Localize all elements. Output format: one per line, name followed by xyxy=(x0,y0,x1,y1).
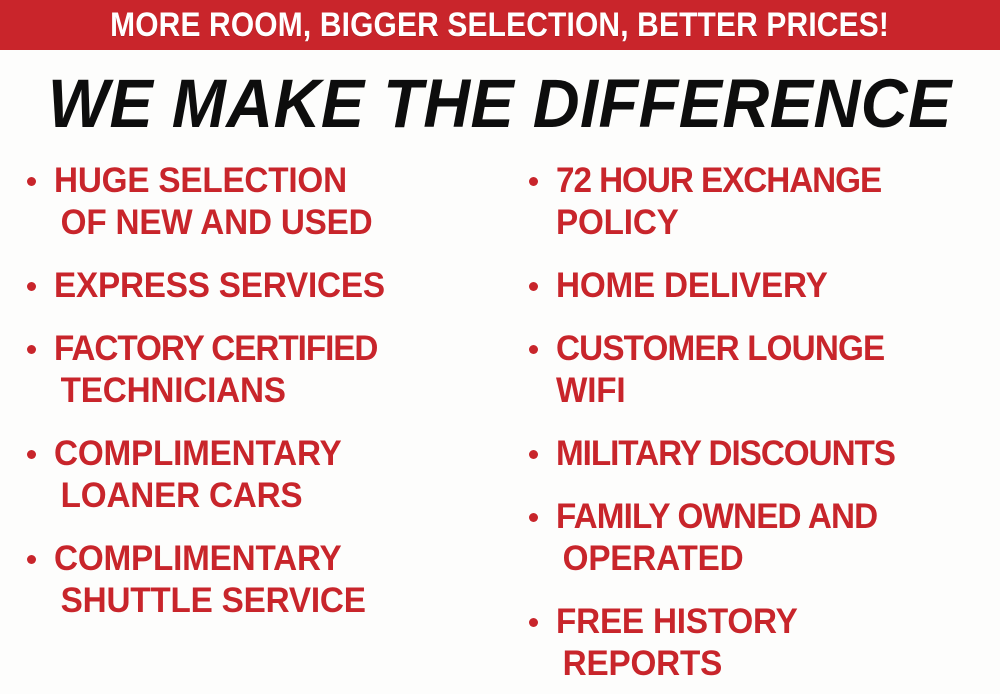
list-item-line: CUSTOMER LOUNGE xyxy=(556,328,978,370)
list-item-line: TECHNICIANS xyxy=(54,370,485,412)
list-item-line: 72 HOUR EXCHANGE xyxy=(556,160,978,202)
bullet-dot-icon xyxy=(529,282,538,291)
list-item-line: HUGE SELECTION xyxy=(54,160,485,202)
bullet-dot-icon xyxy=(529,618,538,627)
list-item-line: COMPLIMENTARY xyxy=(54,433,485,475)
bullet-dot-icon xyxy=(529,177,538,186)
list-item: FAMILY OWNED AND OPERATED xyxy=(520,496,1000,580)
list-item: COMPLIMENTARY SHUTTLE SERVICE xyxy=(18,538,508,622)
benefits-column-left: HUGE SELECTION OF NEW AND USED EXPRESS S… xyxy=(18,160,508,643)
list-item-line: COMPLIMENTARY xyxy=(54,538,485,580)
list-item: HUGE SELECTION OF NEW AND USED xyxy=(18,160,508,244)
list-item-line: OF NEW AND USED xyxy=(54,202,485,244)
list-item-line: HOME DELIVERY xyxy=(556,265,978,307)
list-item: EXPRESS SERVICES xyxy=(18,265,508,307)
list-item-line: WIFI xyxy=(556,370,978,412)
bullet-dot-icon xyxy=(529,450,538,459)
list-item-line: POLICY xyxy=(556,202,978,244)
top-banner: MORE ROOM, BIGGER SELECTION, BETTER PRIC… xyxy=(0,0,1000,50)
page-title: WE MAKE THE DIFFERENCE xyxy=(0,69,1000,138)
bullet-dot-icon xyxy=(27,282,36,291)
list-item: HOME DELIVERY xyxy=(520,265,1000,307)
list-item: FACTORY CERTIFIED TECHNICIANS xyxy=(18,328,508,412)
list-item: FREE HISTORY REPORTS xyxy=(520,601,1000,685)
bullet-dot-icon xyxy=(529,513,538,522)
list-item-line: FACTORY CERTIFIED xyxy=(54,328,485,370)
list-item: CUSTOMER LOUNGE WIFI xyxy=(520,328,1000,412)
list-item-line: LOANER CARS xyxy=(54,475,485,517)
list-item-line: OPERATED xyxy=(556,538,978,580)
list-item-line: REPORTS xyxy=(556,643,978,685)
page-title-text: WE MAKE THE DIFFERENCE xyxy=(48,69,952,138)
list-item-line: FAMILY OWNED AND xyxy=(556,496,978,538)
list-item: MILITARY DISCOUNTS xyxy=(520,433,1000,475)
list-item-line: EXPRESS SERVICES xyxy=(54,265,485,307)
list-item-line: MILITARY DISCOUNTS xyxy=(556,433,978,475)
bullet-dot-icon xyxy=(27,345,36,354)
poster-root: MORE ROOM, BIGGER SELECTION, BETTER PRIC… xyxy=(0,0,1000,694)
bullet-dot-icon xyxy=(27,450,36,459)
bullet-dot-icon xyxy=(27,177,36,186)
list-item: COMPLIMENTARY LOANER CARS xyxy=(18,433,508,517)
list-item-line: FREE HISTORY xyxy=(556,601,978,643)
bullet-dot-icon xyxy=(529,345,538,354)
banner-headline-text: MORE ROOM, BIGGER SELECTION, BETTER PRIC… xyxy=(111,8,890,42)
bullet-dot-icon xyxy=(27,555,36,564)
list-item: 72 HOUR EXCHANGE POLICY xyxy=(520,160,1000,244)
benefits-column-right: 72 HOUR EXCHANGE POLICY HOME DELIVERY CU… xyxy=(520,160,1000,694)
list-item-line: SHUTTLE SERVICE xyxy=(54,580,485,622)
